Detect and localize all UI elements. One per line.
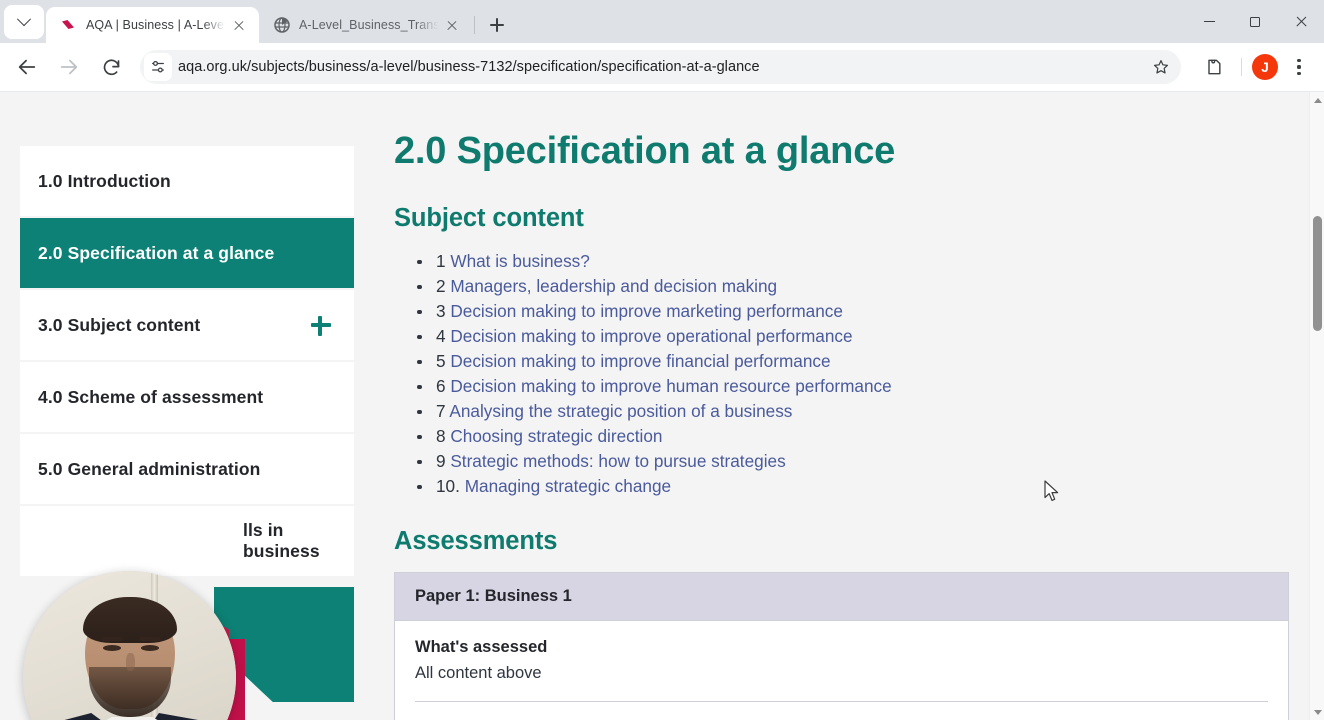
main-content: 2.0 Specification at a glance Subject co… xyxy=(394,130,1289,720)
tab-separator xyxy=(474,16,475,34)
back-arrow-icon xyxy=(16,56,38,78)
kebab-dot xyxy=(1297,72,1300,75)
item-number: 6 xyxy=(436,376,446,396)
sidebar-item-label: 1.0 Introduction xyxy=(38,171,171,192)
new-tab-button[interactable] xyxy=(482,10,512,40)
browser-menu-button[interactable] xyxy=(1284,52,1314,82)
subject-content-link[interactable]: Decision making to improve marketing per… xyxy=(450,301,843,321)
presenter-nose xyxy=(126,653,135,671)
sidebar-item-label: 2.0 Specification at a glance xyxy=(38,243,274,264)
sidebar-item-subject-content[interactable]: 3.0 Subject content xyxy=(20,290,354,360)
subject-content-link[interactable]: Decision making to improve financial per… xyxy=(450,351,830,371)
sidebar-item-specification-at-a-glance[interactable]: 2.0 Specification at a glance xyxy=(20,218,354,288)
bookmark-button[interactable] xyxy=(1147,53,1175,81)
paper-section-divider xyxy=(415,701,1268,711)
subject-content-link[interactable]: Managers, leadership and decision making xyxy=(450,276,777,296)
sidebar-item-general-administration[interactable]: 5.0 General administration xyxy=(20,434,354,504)
close-window-button[interactable] xyxy=(1278,0,1324,43)
paper-body: What's assessed All content above xyxy=(395,620,1288,720)
item-number: 5 xyxy=(436,351,446,371)
window-controls xyxy=(1186,0,1324,43)
minimize-icon xyxy=(1204,21,1215,22)
item-number: 8 xyxy=(436,426,446,446)
forward-arrow-icon xyxy=(58,56,80,78)
maximize-icon xyxy=(1250,17,1260,27)
scroll-down-arrow[interactable] xyxy=(1310,704,1324,720)
list-item: 8 Choosing strategic direction xyxy=(412,424,1289,449)
tab-strip: AQA | Business | A-Level | A- A-Level_Bu… xyxy=(0,0,1324,43)
tab-title: AQA | Business | A-Level | A- xyxy=(86,18,225,32)
star-icon xyxy=(1152,58,1170,76)
assessments-heading: Assessments xyxy=(394,527,1289,556)
subject-content-link[interactable]: Decision making to improve operational p… xyxy=(450,326,852,346)
site-settings-button[interactable] xyxy=(144,53,172,81)
kebab-dot xyxy=(1297,59,1300,62)
paper-1-card: Paper 1: Business 1 What's assessed All … xyxy=(394,572,1289,720)
address-bar[interactable]: aqa.org.uk/subjects/business/a-level/bus… xyxy=(140,50,1181,84)
list-item: 4 Decision making to improve operational… xyxy=(412,324,1289,349)
list-item: 5 Decision making to improve financial p… xyxy=(412,349,1289,374)
browser-window: AQA | Business | A-Level | A- A-Level_Bu… xyxy=(0,0,1324,720)
scroll-up-arrow[interactable] xyxy=(1310,92,1324,108)
page-scrollbar[interactable] xyxy=(1309,92,1324,720)
item-number: 4 xyxy=(436,326,446,346)
tune-icon xyxy=(150,59,166,75)
list-item: 9 Strategic methods: how to pursue strat… xyxy=(412,449,1289,474)
close-icon xyxy=(1295,15,1308,28)
list-item: 3 Decision making to improve marketing p… xyxy=(412,299,1289,324)
page-viewport: 1.0 Introduction 2.0 Specification at a … xyxy=(0,92,1324,720)
subject-content-list: 1 What is business? 2 Managers, leadersh… xyxy=(412,249,1289,499)
webcam-video-bubble[interactable] xyxy=(23,571,236,720)
toolbar-separator xyxy=(1241,58,1242,76)
aqa-specification-page: 1.0 Introduction 2.0 Specification at a … xyxy=(0,92,1310,720)
url-text[interactable]: aqa.org.uk/subjects/business/a-level/bus… xyxy=(178,59,1147,75)
chevron-down-icon xyxy=(17,12,31,26)
item-number: 10. xyxy=(436,476,460,496)
item-number: 7 xyxy=(436,401,446,421)
forward-button[interactable] xyxy=(52,50,86,84)
close-icon[interactable] xyxy=(229,15,249,35)
tab-aqa-business[interactable]: AQA | Business | A-Level | A- xyxy=(46,7,259,43)
globe-icon xyxy=(273,17,290,34)
subject-content-link[interactable]: What is business? xyxy=(450,251,589,271)
close-icon[interactable] xyxy=(442,15,462,35)
sidebar-item-label: 5.0 General administration xyxy=(38,459,260,480)
specification-sidebar: 1.0 Introduction 2.0 Specification at a … xyxy=(20,146,354,578)
extensions-icon xyxy=(1204,57,1224,77)
aqa-logo-icon xyxy=(60,17,77,34)
whats-assessed-value: All content above xyxy=(415,664,1268,683)
subject-content-link[interactable]: Analysing the strategic position of a bu… xyxy=(449,401,792,421)
item-number: 1 xyxy=(436,251,446,271)
item-number: 9 xyxy=(436,451,446,471)
plus-icon[interactable] xyxy=(310,314,332,336)
presenter-eyebrow-left xyxy=(101,637,123,641)
mouse-cursor xyxy=(1044,480,1062,504)
browser-toolbar: aqa.org.uk/subjects/business/a-level/bus… xyxy=(0,43,1324,92)
page-title: 2.0 Specification at a glance xyxy=(394,130,1289,174)
sidebar-item-label: 4.0 Scheme of assessment xyxy=(38,387,263,408)
list-item: 1 What is business? xyxy=(412,249,1289,274)
scroll-up-icon xyxy=(1314,98,1322,103)
scroll-down-icon xyxy=(1314,710,1322,715)
list-item: 2 Managers, leadership and decision maki… xyxy=(412,274,1289,299)
subject-content-heading: Subject content xyxy=(394,204,1289,233)
list-item: 6 Decision making to improve human resou… xyxy=(412,374,1289,399)
list-item: 7 Analysing the strategic position of a … xyxy=(412,399,1289,424)
scrollbar-thumb[interactable] xyxy=(1313,216,1322,331)
tab-title: A-Level_Business_Transition_ xyxy=(299,18,438,32)
sidebar-item-scheme-of-assessment[interactable]: 4.0 Scheme of assessment xyxy=(20,362,354,432)
item-number: 2 xyxy=(436,276,446,296)
subject-content-link[interactable]: Choosing strategic direction xyxy=(450,426,662,446)
maximize-button[interactable] xyxy=(1232,0,1278,43)
sidebar-item-introduction[interactable]: 1.0 Introduction xyxy=(20,146,354,216)
tab-a-level-business-transition[interactable]: A-Level_Business_Transition_ xyxy=(259,7,472,43)
sidebar-item-label: 3.0 Subject content xyxy=(38,315,200,336)
paper-title: Paper 1: Business 1 xyxy=(395,573,1288,620)
profile-avatar[interactable]: J xyxy=(1252,54,1278,80)
minimize-button[interactable] xyxy=(1186,0,1232,43)
subject-content-link[interactable]: Strategic methods: how to pursue strateg… xyxy=(450,451,785,471)
presenter-eyebrow-right xyxy=(139,637,161,641)
whats-assessed-label: What's assessed xyxy=(415,638,1268,657)
subject-content-link[interactable]: Decision making to improve human resourc… xyxy=(450,376,891,396)
kebab-dot xyxy=(1297,65,1300,68)
list-item: 10. Managing strategic change xyxy=(412,474,1289,499)
subject-content-link[interactable]: Managing strategic change xyxy=(465,476,671,496)
reload-button[interactable] xyxy=(94,50,128,84)
item-number: 3 xyxy=(436,301,446,321)
back-button[interactable] xyxy=(10,50,44,84)
presenter-eye-left xyxy=(103,645,121,651)
sidebar-item-mathematical-skills[interactable]: lls in business xyxy=(20,506,354,576)
tab-search-button[interactable] xyxy=(4,5,44,39)
reload-icon xyxy=(101,57,122,78)
extensions-button[interactable] xyxy=(1197,50,1231,84)
sidebar-item-label: lls in business xyxy=(38,520,332,562)
presenter-eye-right xyxy=(141,645,159,651)
